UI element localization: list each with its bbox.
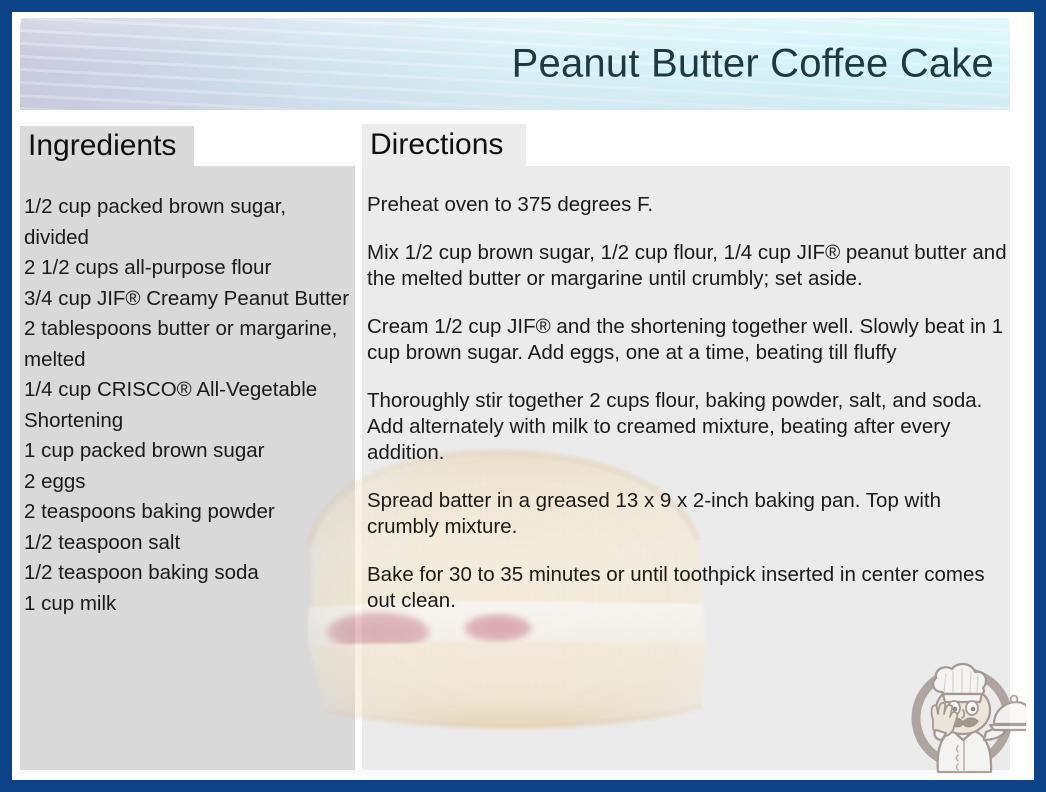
ingredient-item: 2 teaspoons baking powder [24,497,354,528]
ingredients-list: 1/2 cup packed brown sugar, divided2 1/2… [24,192,354,619]
recipe-card: Peanut Butter Coffee Cake [0,0,1046,792]
directions-heading-label: Directions [362,128,503,162]
ingredient-item: 1 cup milk [24,589,354,620]
direction-step: Cream 1/2 cup JIF® and the shortening to… [367,314,1012,366]
ingredient-item: 1/2 teaspoon salt [24,528,354,559]
page-title: Peanut Butter Coffee Cake [512,42,994,87]
ingredient-item: 1 cup packed brown sugar [24,436,354,467]
ingredients-heading-box: Ingredients [20,126,194,166]
header-banner: Peanut Butter Coffee Cake [20,18,1010,110]
ingredient-item: 2 1/2 cups all-purpose flour [24,253,354,284]
direction-step: Spread batter in a greased 13 x 9 x 2-in… [367,488,1012,540]
direction-step: Preheat oven to 375 degrees F. [367,192,1012,218]
direction-step: Mix 1/2 cup brown sugar, 1/2 cup flour, … [367,240,1012,292]
ingredient-item: 1/4 cup CRISCO® All-Vegetable Shortening [24,375,354,436]
ingredient-item: 3/4 cup JIF® Creamy Peanut Butter [24,284,354,315]
directions-heading-box: Directions [362,124,526,166]
direction-step: Bake for 30 to 35 minutes or until tooth… [367,562,1012,614]
ingredient-item: 2 eggs [24,467,354,498]
direction-step: Thoroughly stir together 2 cups flour, b… [367,388,1012,466]
ingredient-item: 2 tablespoons butter or margarine, melte… [24,314,354,375]
ingredient-item: 1/2 cup packed brown sugar, divided [24,192,354,253]
directions-list: Preheat oven to 375 degrees F.Mix 1/2 cu… [367,192,1012,614]
ingredients-heading-label: Ingredients [20,129,176,163]
ingredient-item: 1/2 teaspoon baking soda [24,558,354,589]
